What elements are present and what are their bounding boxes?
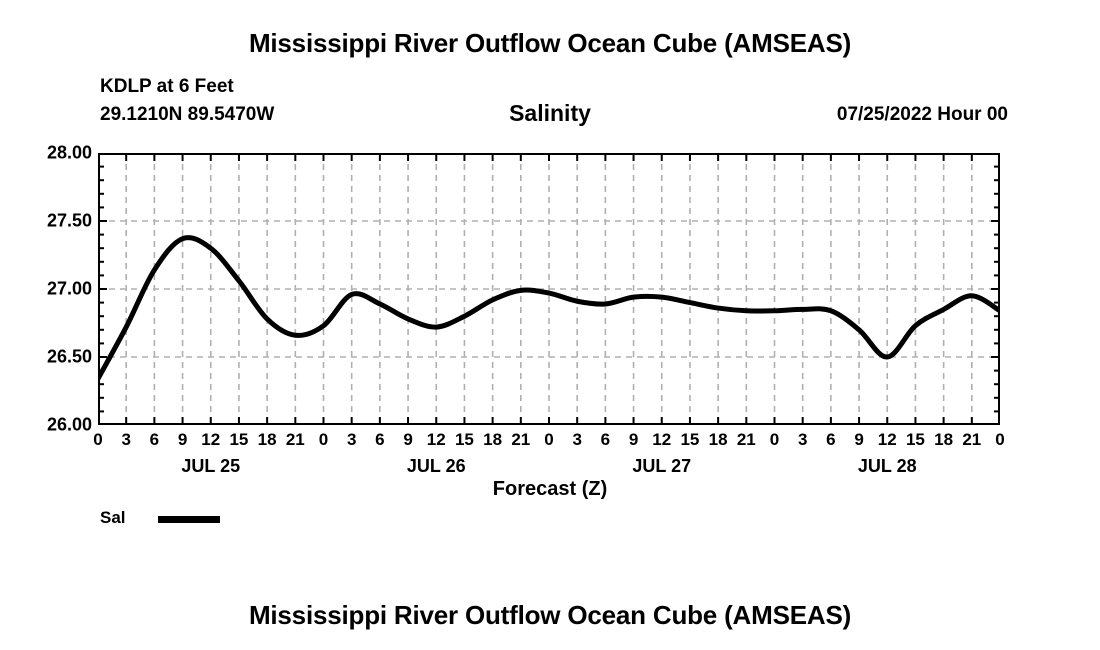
y-tick-label: 28.00 xyxy=(0,143,92,164)
x-tick-label: 12 xyxy=(201,430,220,450)
x-tick-label: 6 xyxy=(601,430,610,450)
x-tick-label: 18 xyxy=(709,430,728,450)
x-tick-label: 21 xyxy=(737,430,756,450)
footer-title: Mississippi River Outflow Ocean Cube (AM… xyxy=(0,600,1100,631)
x-tick-label: 12 xyxy=(427,430,446,450)
x-tick-label: 3 xyxy=(798,430,807,450)
legend-label: Sal xyxy=(100,508,126,528)
x-tick-label: 21 xyxy=(286,430,305,450)
x-tick-label: 6 xyxy=(375,430,384,450)
y-tick-label: 26.00 xyxy=(0,415,92,436)
day-label: JUL 28 xyxy=(858,456,917,477)
x-tick-label: 18 xyxy=(934,430,953,450)
day-label: JUL 27 xyxy=(632,456,691,477)
x-axis-title: Forecast (Z) xyxy=(0,478,1100,501)
x-tick-label: 15 xyxy=(906,430,925,450)
legend-swatch xyxy=(158,516,220,523)
x-tick-label: 3 xyxy=(347,430,356,450)
x-tick-label: 21 xyxy=(962,430,981,450)
x-tick-label: 0 xyxy=(544,430,553,450)
x-tick-label: 9 xyxy=(854,430,863,450)
x-tick-label: 0 xyxy=(93,430,102,450)
page-title: Mississippi River Outflow Ocean Cube (AM… xyxy=(0,28,1100,59)
x-tick-label: 12 xyxy=(652,430,671,450)
x-tick-label: 15 xyxy=(229,430,248,450)
x-tick-label: 9 xyxy=(178,430,187,450)
x-tick-label: 15 xyxy=(455,430,474,450)
station-depth-label: KDLP at 6 Feet xyxy=(100,76,234,98)
x-tick-label: 15 xyxy=(680,430,699,450)
plot-area xyxy=(98,153,1000,425)
x-tick-label: 9 xyxy=(629,430,638,450)
run-datetime-label: 07/25/2022 Hour 00 xyxy=(837,104,1008,126)
day-label: JUL 25 xyxy=(181,456,240,477)
x-tick-label: 0 xyxy=(770,430,779,450)
x-tick-label: 12 xyxy=(878,430,897,450)
y-tick-label: 26.50 xyxy=(0,347,92,368)
y-tick-label: 27.50 xyxy=(0,211,92,232)
y-tick-label: 27.00 xyxy=(0,279,92,300)
plot-frame xyxy=(98,153,1000,425)
x-tick-label: 0 xyxy=(319,430,328,450)
chart-page: Mississippi River Outflow Ocean Cube (AM… xyxy=(0,0,1100,650)
x-tick-label: 6 xyxy=(150,430,159,450)
x-tick-label: 6 xyxy=(826,430,835,450)
x-tick-label: 3 xyxy=(572,430,581,450)
x-tick-label: 0 xyxy=(995,430,1004,450)
x-tick-label: 21 xyxy=(511,430,530,450)
x-tick-label: 3 xyxy=(121,430,130,450)
x-tick-label: 18 xyxy=(483,430,502,450)
day-label: JUL 26 xyxy=(407,456,466,477)
x-tick-label: 9 xyxy=(403,430,412,450)
x-tick-label: 18 xyxy=(258,430,277,450)
